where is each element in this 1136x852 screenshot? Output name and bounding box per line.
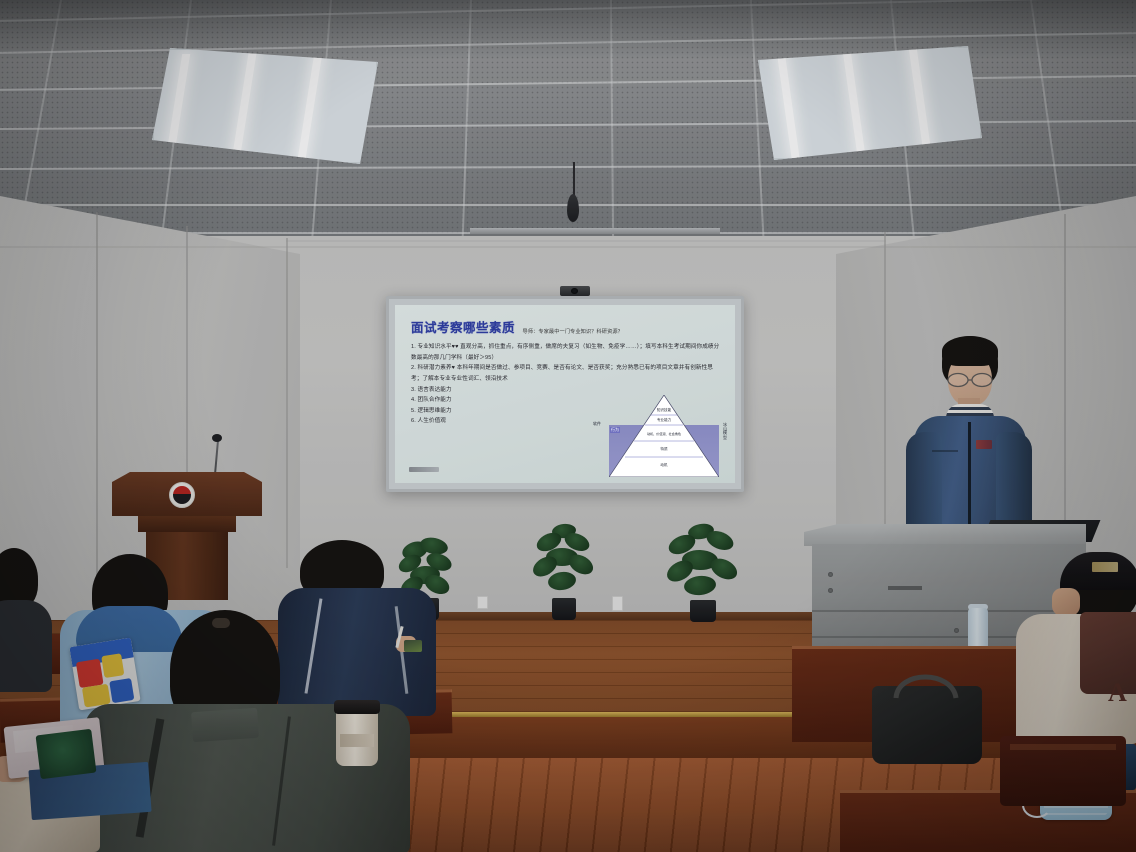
slide-title-note: 导师：专家最中一门专业知识？科研资源？ [522, 328, 622, 336]
slide-footer-button [409, 467, 439, 472]
slide-item-1: 1. 专业知识水平♥♥ 直观分高，抓住重点，有序侧重，做席的夫复习（如生物、免疫… [411, 342, 721, 363]
pyramid-tier-5: 动机 [601, 463, 727, 468]
podium-top [112, 472, 262, 516]
pyramid-tier-4: 特质 [601, 447, 727, 452]
projection-whiteboard: 面试考察哪些素质 导师：专家最中一门专业知识？科研资源？ 1. 专业知识水平♥♥… [386, 296, 744, 492]
board-camera-icon [560, 286, 590, 296]
console-handle-icon [828, 588, 833, 593]
pyramid-label-iceberg: 冰山模型 [722, 423, 728, 440]
slide-surface: 面试考察哪些素质 导师：专家最中一门专业知识？科研资源？ 1. 专业知识水平♥♥… [395, 305, 735, 483]
coffee-cup [336, 700, 378, 766]
audience-member-5: A [1004, 552, 1136, 752]
pyramid-tier-2: 专业能力 [601, 418, 727, 423]
ceiling-mic-cord [573, 162, 575, 196]
potted-plant-3 [666, 524, 740, 622]
podium-neck [138, 516, 236, 532]
handbag-handle-icon [888, 664, 966, 700]
audience-4-ponytail [212, 618, 230, 628]
audience-5-hand [1052, 588, 1080, 616]
lecture-hall-photo: 面试考察哪些素质 导师：专家最中一门专业知识？科研资源？ 1. 专业知识水平♥♥… [0, 0, 1136, 852]
podium-microphone-icon [212, 434, 222, 442]
pyramid-waterline-tag: 行为 [610, 427, 620, 433]
pyramid-tier-1: 知识技能 [601, 408, 727, 413]
pyramid-label-soft: 软件 [593, 421, 601, 427]
podium-emblem-icon [169, 482, 195, 508]
presenter-glasses-icon [944, 372, 996, 388]
cap-logo [1092, 562, 1118, 572]
wall-outlet-left [477, 596, 488, 609]
ceiling-rail [470, 228, 720, 234]
wall-outlet-right [612, 596, 623, 611]
slide-title-row: 面试考察哪些素质 导师：专家最中一门专业知识？科研资源？ [411, 317, 721, 336]
slide-item-2: 2. 科研潜力素养♥ 本科年期间是否做过、参项目、竞赛、是否有论文、是否获奖；充… [411, 363, 721, 384]
potted-plant-2 [532, 524, 596, 620]
console-lock-icon [828, 572, 833, 577]
ceiling-mic-icon [567, 194, 579, 222]
console-top [804, 524, 1086, 546]
console-lock-lower-icon [954, 628, 959, 633]
audience-member-1 [0, 548, 56, 688]
presenter-chest-badge [976, 440, 992, 449]
presentation-slide: 面试考察哪些素质 导师：专家最中一门专业知识？科研资源？ 1. 专业知识水平♥♥… [395, 305, 735, 483]
slide-title: 面试考察哪些素质 [411, 317, 515, 336]
slide-item-3: 3. 语言表达能力 [411, 385, 721, 396]
audience-5-letter: A [1108, 680, 1136, 706]
panda-sticker [36, 729, 97, 779]
iceberg-model-diagram: 知识技能 专业能力 动机、价值观、社会角色 特质 动机 软件 行为 冰山模型 [601, 395, 727, 477]
